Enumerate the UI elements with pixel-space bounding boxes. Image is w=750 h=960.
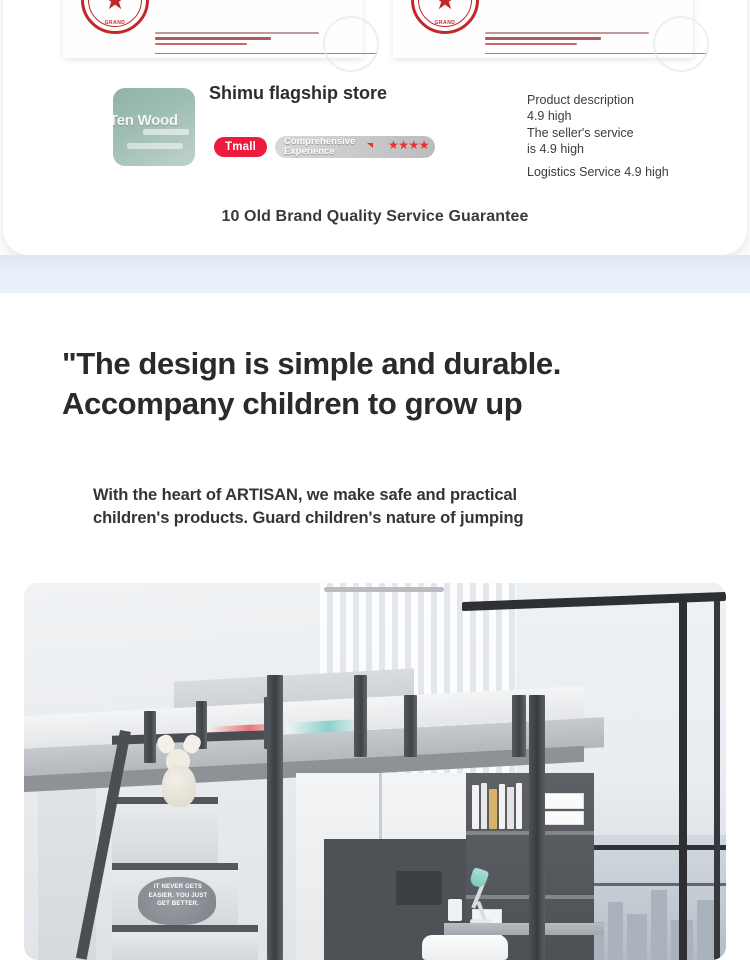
store-logo[interactable]: Ten Wood xyxy=(113,88,195,166)
rating-caret-icon xyxy=(367,143,373,148)
watermark-circle-icon xyxy=(323,16,379,72)
store-trust-card: TEST REPORT SEAL ★ GRAND xyxy=(3,0,747,255)
store-name[interactable]: Shimu flagship store xyxy=(209,82,399,106)
store-logo-text: Ten Wood xyxy=(113,112,195,129)
seal-star-icon: ★ xyxy=(433,0,456,13)
certificate-document[interactable]: TEST REPORT SEAL ★ GRAND xyxy=(63,0,363,58)
curtain-rod xyxy=(324,587,444,592)
section-separator-band xyxy=(0,255,750,293)
window-mullion-outer xyxy=(714,601,720,960)
store-logo-subtext-bar xyxy=(143,129,189,135)
storage-box xyxy=(544,811,584,825)
certificate-document[interactable]: TEST REPORT SEAL ★ GRAND xyxy=(393,0,693,58)
rating-seller-service-value: is 4.9 high xyxy=(527,141,727,157)
pencil-holder xyxy=(448,899,462,921)
official-seal-icon: TEST REPORT SEAL ★ GRAND xyxy=(81,0,149,34)
experience-badge-label: Comprehensive Experience xyxy=(284,137,380,158)
tmall-badge[interactable]: Tmall xyxy=(214,137,267,157)
desk-monitor xyxy=(396,871,442,905)
window-mullion xyxy=(679,599,687,960)
bed-support-post xyxy=(529,695,545,960)
official-seal-icon: TEST REPORT SEAL ★ GRAND xyxy=(411,0,479,34)
comprehensive-experience-badge[interactable]: Comprehensive Experience ★★★★ xyxy=(275,136,435,158)
desk-chair xyxy=(422,935,508,960)
bed-guard-post xyxy=(354,675,367,757)
bed-support-post xyxy=(267,675,283,960)
stair-step-edge xyxy=(112,925,258,932)
plush-moose-toy xyxy=(162,765,196,807)
desk-surface xyxy=(444,923,604,935)
service-guarantee-text: 10 Old Brand Quality Service Guarantee xyxy=(3,208,747,226)
stair-step-edge xyxy=(112,863,238,870)
store-identity-row: Ten Wood Shimu flagship store Tmall Comp… xyxy=(3,88,747,178)
product-photo[interactable]: IT NEVER GETS EASIER. YOU JUST GET BETTE… xyxy=(24,583,726,960)
bed-guard-post xyxy=(404,695,417,757)
seal-bottom-text: GRAND xyxy=(414,20,476,26)
stair-step xyxy=(112,929,258,960)
watermark-circle-icon xyxy=(653,16,709,72)
hero-subcopy: With the heart of ARTISAN, we make safe … xyxy=(93,484,533,531)
store-badges: Tmall Comprehensive Experience ★★★★ xyxy=(214,136,435,158)
bed-guard-post xyxy=(512,695,526,757)
star-rating-icon: ★★★★ xyxy=(388,139,429,151)
certificate-gallery: TEST REPORT SEAL ★ GRAND xyxy=(3,0,747,55)
storage-box xyxy=(544,793,584,809)
stair-step xyxy=(112,801,218,867)
rating-logistics-service: Logistics Service 4.9 high xyxy=(527,164,727,180)
rating-product-description-label: Product description xyxy=(527,92,727,108)
rating-product-description-value: 4.9 high xyxy=(527,108,727,124)
cushion-slogan-text: IT NEVER GETS EASIER. YOU JUST GET BETTE… xyxy=(142,883,214,909)
bed-guard-post xyxy=(144,711,156,763)
books-on-shelf xyxy=(472,781,528,829)
store-logo-tagline-bar xyxy=(127,143,183,149)
rating-seller-service-label: The seller's service xyxy=(527,125,727,141)
store-ratings-block: Product description 4.9 high The seller'… xyxy=(527,92,727,180)
product-detail-page: TEST REPORT SEAL ★ GRAND xyxy=(0,0,750,960)
seal-star-icon: ★ xyxy=(103,0,126,13)
seal-bottom-text: GRAND xyxy=(84,20,146,26)
hero-headline: "The design is simple and durable. Accom… xyxy=(62,344,582,425)
